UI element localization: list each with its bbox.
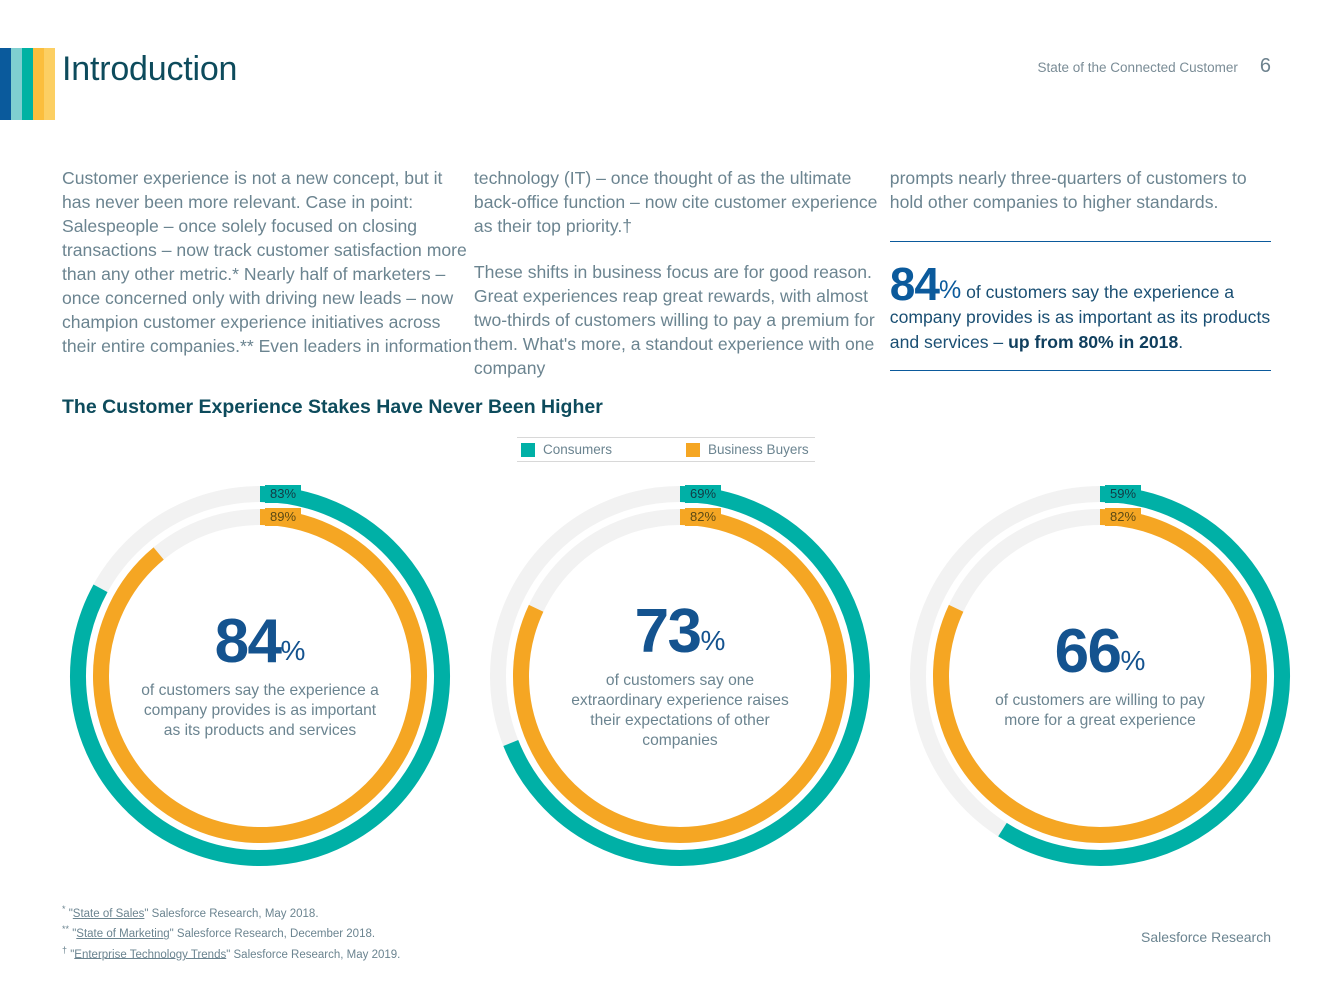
footnote-link-2[interactable]: State of Marketing bbox=[76, 928, 169, 940]
donut-label-business-buyers-3: 82% bbox=[1105, 508, 1141, 526]
donut-chart-group: 83%89%84%of customers say the experience… bbox=[0, 478, 1333, 878]
header-meta: State of the Connected Customer 6 bbox=[1038, 55, 1272, 78]
donut-chart-3: 59%82%66%of customers are willing to pay… bbox=[900, 478, 1300, 874]
footer-brand: Salesforce Research bbox=[1141, 929, 1271, 945]
donut-label-business-buyers-1: 89% bbox=[265, 508, 301, 526]
chart-section-title: The Customer Experience Stakes Have Neve… bbox=[62, 396, 603, 419]
document-label: State of the Connected Customer bbox=[1038, 60, 1238, 75]
donut-center-2: 73%of customers say one extraordinary ex… bbox=[560, 601, 800, 751]
body-paragraph-3: These shifts in business focus are for g… bbox=[474, 260, 890, 380]
page-root: Introduction State of the Connected Cust… bbox=[0, 0, 1333, 1000]
donut-description-3: of customers are willing to pay more for… bbox=[980, 691, 1220, 731]
legend-swatch-business-buyers bbox=[686, 443, 700, 457]
donut-label-consumers-1: 83% bbox=[265, 485, 301, 503]
footnote-1: * "State of Sales" Salesforce Research, … bbox=[62, 902, 400, 922]
brand-stripe-3 bbox=[22, 48, 33, 120]
stat-callout-percent: % bbox=[939, 276, 961, 304]
donut-center-1: 84%of customers say the experience a com… bbox=[140, 611, 380, 741]
stat-callout-line: 84% of customers say the experience a co… bbox=[890, 264, 1271, 354]
donut-description-1: of customers say the experience a compan… bbox=[140, 681, 380, 741]
donut-headline-3: 66% bbox=[980, 621, 1220, 683]
donut-label-business-buyers-2: 82% bbox=[685, 508, 721, 526]
body-paragraph-2: technology (IT) – once thought of as the… bbox=[474, 166, 890, 238]
donut-headline-percent-1: % bbox=[281, 635, 306, 666]
legend-item-consumers[interactable]: Consumers bbox=[521, 442, 612, 457]
donut-label-consumers-3: 59% bbox=[1105, 485, 1141, 503]
footnote-text-1: " Salesforce Research, May 2018. bbox=[144, 908, 318, 920]
donut-headline-1: 84% bbox=[140, 611, 380, 673]
donut-headline-percent-3: % bbox=[1121, 645, 1146, 676]
stat-callout-number: 84 bbox=[890, 258, 939, 310]
footnotes: * "State of Sales" Salesforce Research, … bbox=[62, 902, 400, 963]
donut-center-3: 66%of customers are willing to pay more … bbox=[980, 621, 1220, 731]
donut-description-2: of customers say one extraordinary exper… bbox=[560, 671, 800, 751]
body-paragraph-4: prompts nearly three-quarters of custome… bbox=[890, 166, 1271, 214]
legend-label-business-buyers: Business Buyers bbox=[708, 442, 809, 457]
donut-chart-2: 69%82%73%of customers say one extraordin… bbox=[480, 478, 880, 874]
footnote-link-1[interactable]: State of Sales bbox=[73, 908, 145, 920]
brand-stripe-2 bbox=[11, 48, 22, 120]
body-columns: Customer experience is not a new concept… bbox=[62, 166, 1271, 380]
footnote-3: † "Enterprise Technology Trends" Salesfo… bbox=[62, 943, 400, 963]
legend-label-consumers: Consumers bbox=[543, 442, 612, 457]
footnote-text-2: " Salesforce Research, December 2018. bbox=[170, 928, 375, 940]
chart-legend: Consumers Business Buyers bbox=[517, 437, 815, 462]
brand-stripe-1 bbox=[0, 48, 11, 120]
brand-stripe-bar bbox=[0, 48, 55, 120]
stat-callout-bold: up from 80% in 2018 bbox=[1008, 332, 1178, 352]
donut-headline-percent-2: % bbox=[701, 625, 726, 656]
footnote-marker-2: ** bbox=[62, 924, 69, 934]
brand-stripe-4 bbox=[33, 48, 44, 120]
body-column-2: technology (IT) – once thought of as the… bbox=[474, 166, 890, 380]
donut-headline-number-2: 73 bbox=[635, 601, 701, 663]
body-column-1: Customer experience is not a new concept… bbox=[62, 166, 474, 380]
page-title: Introduction bbox=[62, 50, 237, 89]
footnote-quote-1: " bbox=[66, 908, 73, 920]
footnote-2: ** "State of Marketing" Salesforce Resea… bbox=[62, 922, 400, 942]
footnote-link-3[interactable]: Enterprise Technology Trends bbox=[74, 948, 226, 960]
body-column-3: prompts nearly three-quarters of custome… bbox=[890, 166, 1271, 380]
legend-swatch-consumers bbox=[521, 443, 535, 457]
brand-stripe-5 bbox=[44, 48, 55, 120]
donut-headline-number-1: 84 bbox=[215, 611, 281, 673]
donut-chart-1: 83%89%84%of customers say the experience… bbox=[60, 478, 460, 874]
donut-label-consumers-2: 69% bbox=[685, 485, 721, 503]
donut-headline-2: 73% bbox=[560, 601, 800, 663]
stat-callout-period: . bbox=[1178, 332, 1183, 352]
body-paragraph-1: Customer experience is not a new concept… bbox=[62, 166, 474, 358]
stat-callout: 84% of customers say the experience a co… bbox=[890, 241, 1271, 371]
footnote-text-3: " Salesforce Research, May 2019. bbox=[226, 948, 400, 960]
legend-item-business-buyers[interactable]: Business Buyers bbox=[686, 442, 809, 457]
donut-headline-number-3: 66 bbox=[1055, 621, 1121, 683]
page-number: 6 bbox=[1260, 55, 1271, 78]
